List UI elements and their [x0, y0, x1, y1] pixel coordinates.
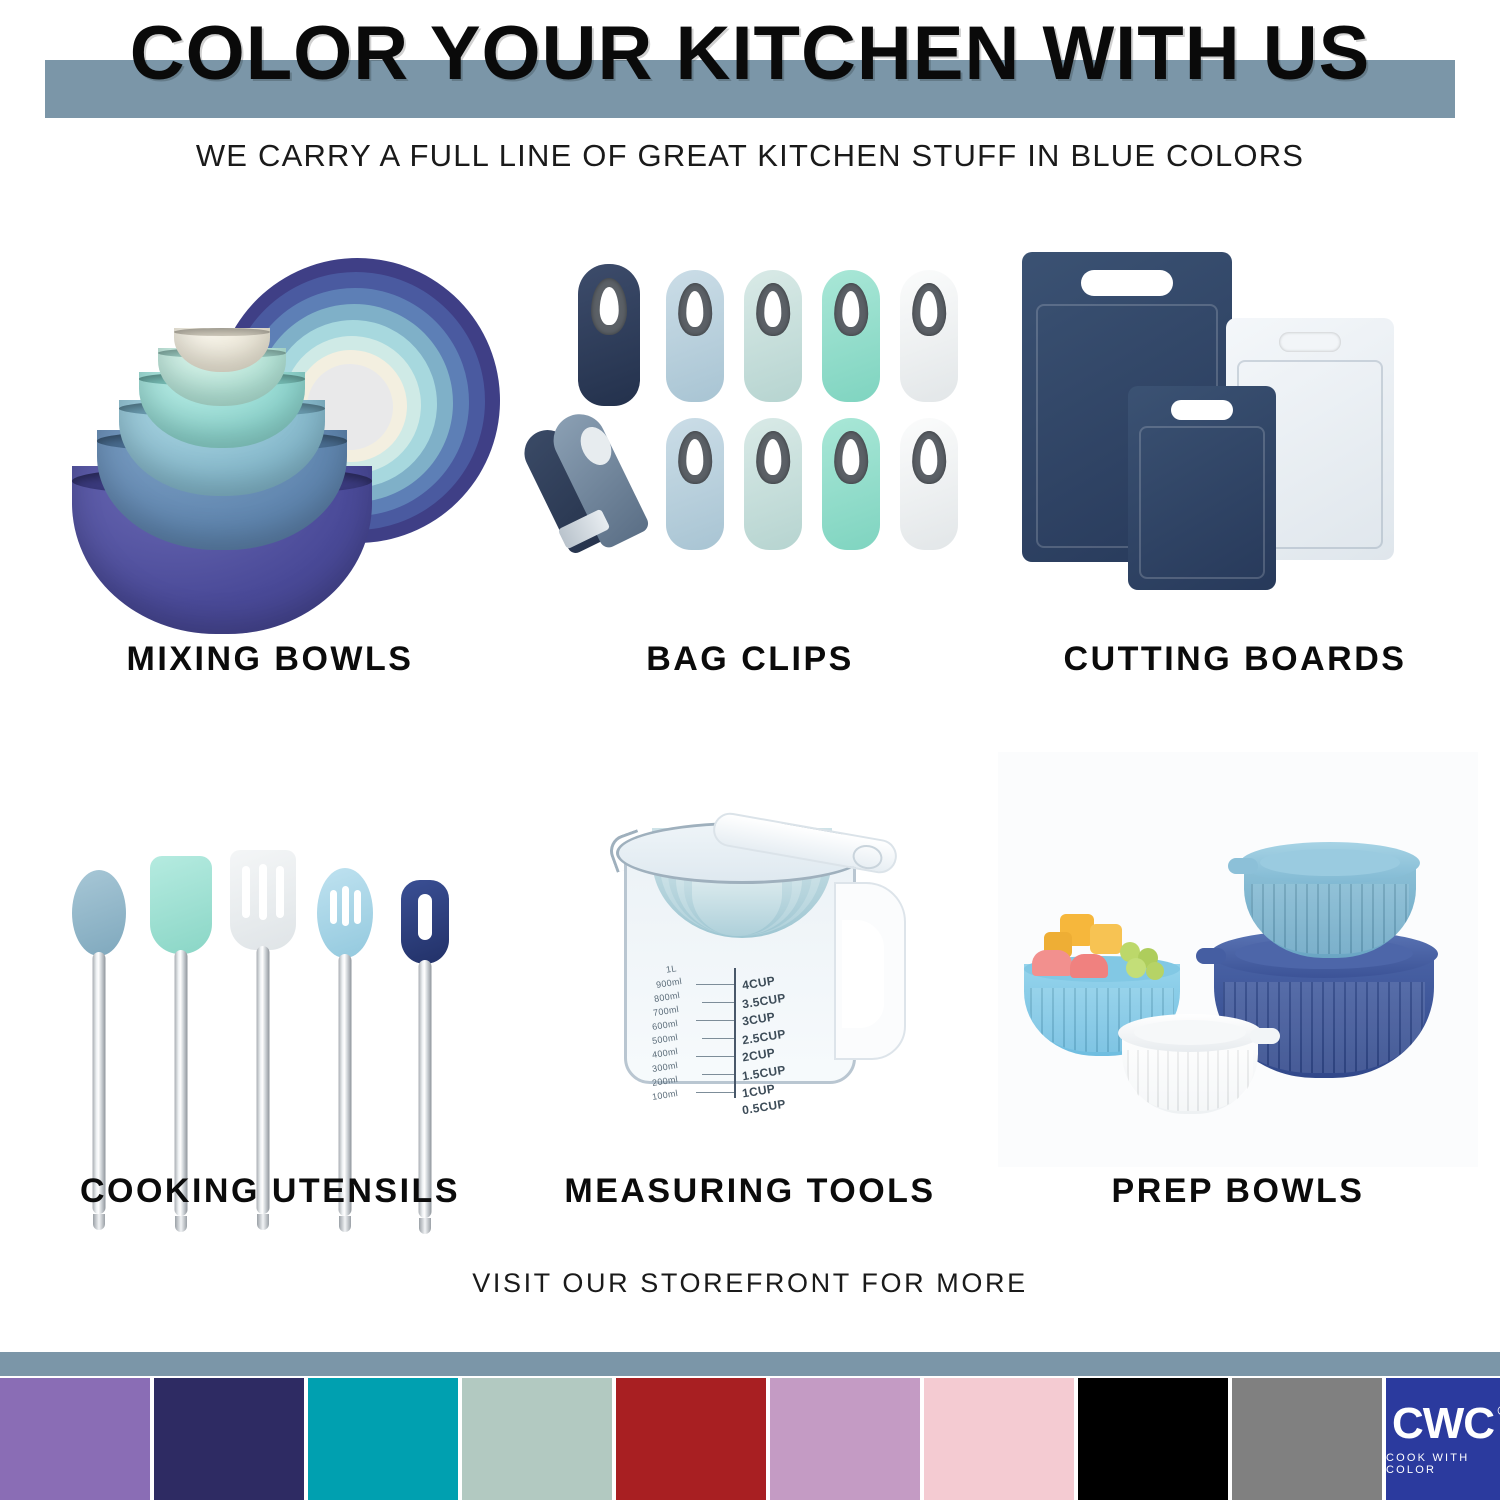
clip-lightblue-2 [666, 418, 724, 550]
swatch-pink [924, 1378, 1074, 1500]
product-cell-bag-clips[interactable]: BAG CLIPS [520, 240, 980, 710]
fruit-grapefruit-1 [1032, 950, 1072, 976]
prep-lid-blue [1240, 842, 1420, 884]
scale-ml-9: 100ml [651, 1088, 678, 1102]
product-label-measuring-tools: MEASURING TOOLS [520, 1172, 980, 1211]
measuring-cup-handle [834, 882, 906, 1060]
page-subtitle: WE CARRY A FULL LINE OF GREAT KITCHEN ST… [0, 138, 1500, 174]
scale-cup-0: 4CUP [741, 973, 776, 992]
clip-navy [578, 264, 640, 406]
scale-ml-7: 300ml [651, 1060, 678, 1074]
clip-mint-2 [822, 418, 880, 550]
swatch-brand-blue: CWC® COOK WITH COLOR [1386, 1378, 1500, 1500]
swatch-red [616, 1378, 766, 1500]
scale-ml-8: 200ml [651, 1074, 678, 1088]
fruit-mango-2 [1090, 924, 1122, 954]
fruit-grape-3 [1126, 958, 1146, 978]
swatch-teal [308, 1378, 458, 1500]
scale-ml-0: 1L [665, 963, 677, 975]
scale-ml-1: 900ml [655, 976, 682, 990]
product-label-cooking-utensils: COOKING UTENSILS [40, 1172, 500, 1211]
brand-logo: CWC® COOK WITH COLOR [1386, 1378, 1500, 1500]
swatch-purple [0, 1378, 150, 1500]
product-grid: MIXING BOWLS [0, 240, 1500, 1300]
brand-mark: CWC® [1392, 1402, 1494, 1446]
scale-cup-5: 1.5CUP [741, 1063, 786, 1084]
clip-paleteal-2 [744, 418, 802, 550]
measuring-cup: 1L 900ml 800ml 700ml 600ml 500ml 400ml 3… [616, 764, 916, 1124]
prep-bowls-image [998, 752, 1478, 1167]
clip-paleteal [744, 270, 802, 402]
product-label-bag-clips: BAG CLIPS [520, 640, 980, 679]
clip-mint [822, 270, 880, 402]
scale-ml-4: 600ml [651, 1018, 678, 1032]
page-title: COLOR YOUR KITCHEN WITH US [0, 16, 1500, 92]
board-medium-navy [1128, 386, 1276, 590]
swatch-gray [1232, 1378, 1382, 1500]
clip-lightblue [666, 270, 724, 402]
prep-lid-tab-blue [1228, 858, 1258, 874]
product-cell-mixing-bowls[interactable]: MIXING BOWLS [40, 240, 500, 710]
product-label-cutting-boards: CUTTING BOARDS [1000, 640, 1470, 679]
brand-mark-text: CWC [1392, 1399, 1494, 1448]
prep-lid-tab-navy [1196, 948, 1226, 964]
scale-ml-6: 400ml [651, 1046, 678, 1060]
infographic-page: COLOR YOUR KITCHEN WITH US WE CARRY A FU… [0, 0, 1500, 1500]
swatch-sage [462, 1378, 612, 1500]
brand-tagline: COOK WITH COLOR [1386, 1452, 1500, 1476]
clip-white-2 [900, 418, 958, 550]
fruit-grapefruit-2 [1070, 954, 1108, 978]
scale-ml-5: 500ml [651, 1032, 678, 1046]
measurement-scale: 1L 900ml 800ml 700ml 600ml 500ml 400ml 3… [650, 964, 840, 1100]
scale-cup-6: 1CUP [741, 1081, 776, 1100]
product-cell-cooking-utensils[interactable]: COOKING UTENSILS [40, 740, 500, 1250]
scale-cup-1: 3.5CUP [741, 991, 786, 1012]
prep-lid-tab-white [1250, 1028, 1280, 1044]
product-cell-cutting-boards[interactable]: CUTTING BOARDS [1000, 240, 1470, 710]
footer-accent-bar [0, 1352, 1500, 1376]
swatch-black [1078, 1378, 1228, 1500]
color-swatch-strip: CWC® COOK WITH COLOR [0, 1378, 1500, 1500]
scale-cup-3: 2.5CUP [741, 1027, 786, 1048]
swatch-orchid [770, 1378, 920, 1500]
product-cell-measuring-tools[interactable]: 1L 900ml 800ml 700ml 600ml 500ml 400ml 3… [520, 740, 980, 1250]
prep-bowls-panel [998, 752, 1478, 1167]
scale-ml-3: 700ml [652, 1004, 679, 1018]
product-label-prep-bowls: PREP BOWLS [998, 1172, 1478, 1211]
prep-lid-white [1118, 1014, 1262, 1052]
scale-cup-4: 2CUP [741, 1045, 776, 1064]
clip-white [900, 270, 958, 402]
storefront-note: VISIT OUR STOREFRONT FOR MORE [0, 1268, 1500, 1299]
product-cell-prep-bowls[interactable]: PREP BOWLS [998, 740, 1478, 1250]
swatch-indigo [154, 1378, 304, 1500]
product-label-mixing-bowls: MIXING BOWLS [40, 640, 500, 679]
fruit-grape-4 [1146, 962, 1164, 980]
scale-cup-2: 3CUP [741, 1009, 776, 1028]
scale-ml-2: 800ml [653, 990, 680, 1004]
